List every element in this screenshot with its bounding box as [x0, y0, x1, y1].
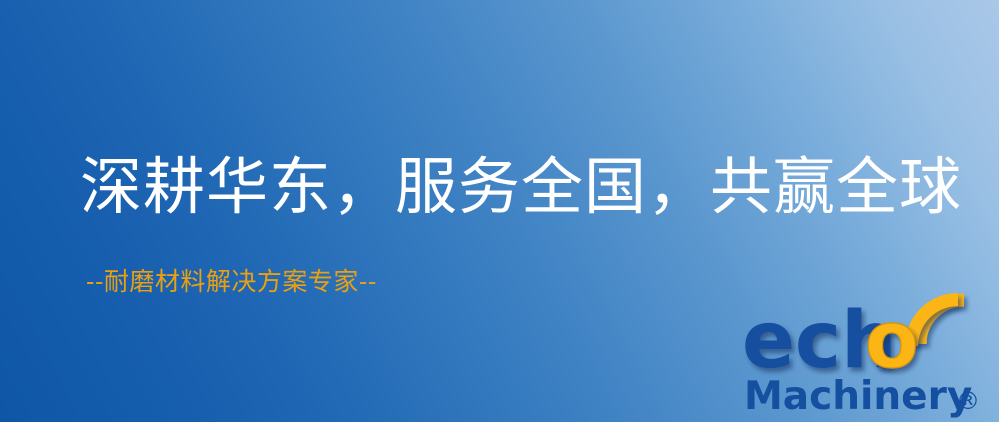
logo-trademark-symbol: ® [956, 387, 980, 415]
hero-banner: 深耕华东，服务全国，共赢全球 --耐磨材料解决方案专家-- [0, 0, 999, 422]
echo-machinery-logo[interactable]: ech o Machinery ® [742, 292, 999, 422]
banner-headline: 深耕华东，服务全国，共赢全球 [80, 148, 962, 226]
logo-letter-o: o [865, 296, 919, 386]
logo-o-label: o [865, 296, 919, 386]
logo-text-machinery: Machinery ® [744, 374, 980, 419]
banner-subtitle: --耐磨材料解决方案专家-- [86, 266, 377, 298]
logo-machinery-label: Machinery [744, 374, 972, 419]
